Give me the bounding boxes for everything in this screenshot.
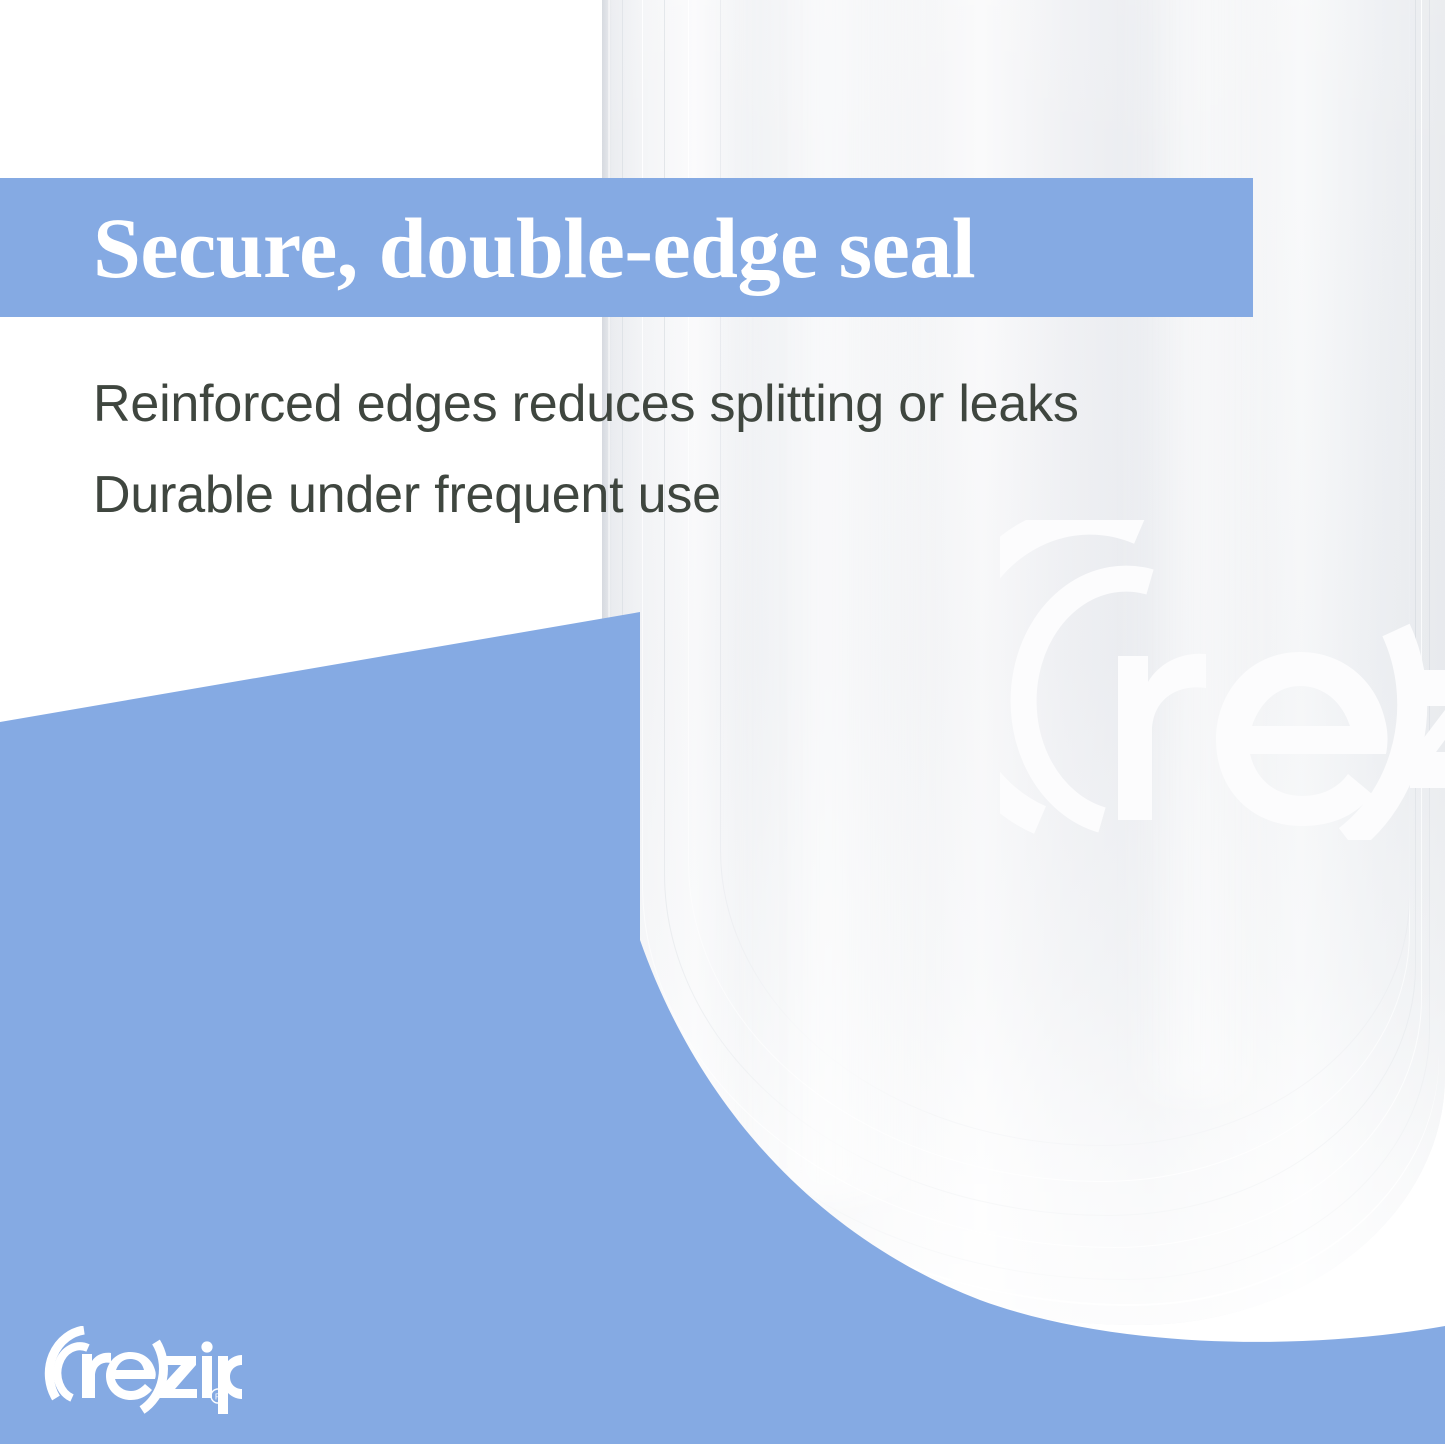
product-feature-card: Secure, double-edge seal Reinforced edge…: [0, 0, 1445, 1444]
feature-bullet-list: Reinforced edges reduces splitting or le…: [93, 375, 1193, 524]
rezip-brand-logo: R: [42, 1326, 242, 1416]
feature-bullet-2: Durable under frequent use: [93, 466, 1193, 524]
page-title: Secure, double-edge seal: [0, 205, 975, 291]
svg-text:R: R: [215, 1392, 221, 1402]
headline-banner: Secure, double-edge seal: [0, 178, 1253, 317]
feature-bullet-1: Reinforced edges reduces splitting or le…: [93, 375, 1193, 433]
